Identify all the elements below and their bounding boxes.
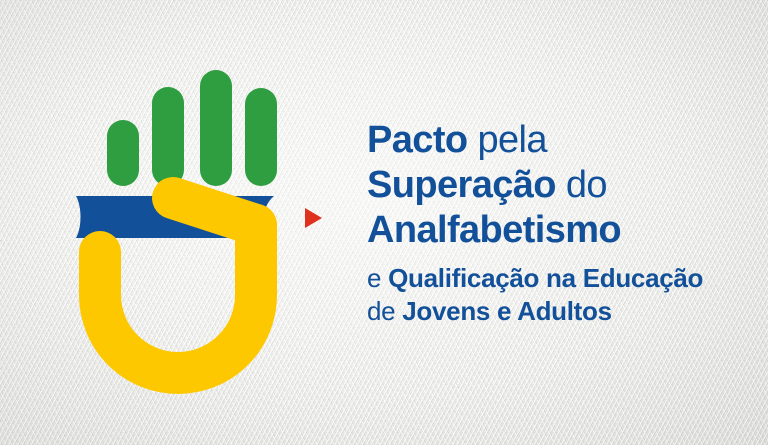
title-line-2: Superação do xyxy=(367,163,727,208)
campaign-banner: Pacto pela Superação do Analfabetismo e … xyxy=(0,0,768,445)
pacto-hand-logo xyxy=(60,50,360,395)
subtitle-line-2-regular: de xyxy=(367,296,395,326)
finger-3-icon xyxy=(200,70,232,186)
subtitle-line-1: e Qualificação na Educação xyxy=(367,262,727,295)
title-line-1: Pacto pela xyxy=(367,118,727,163)
red-play-triangle-icon xyxy=(305,208,322,228)
finger-2-icon xyxy=(152,87,184,186)
finger-4-icon xyxy=(245,88,277,186)
subtitle-block: e Qualificação na Educação de Jovens e A… xyxy=(367,262,727,328)
title-line-1-regular: pela xyxy=(477,119,546,161)
wordmark: Pacto pela Superação do Analfabetismo e … xyxy=(367,118,727,328)
subtitle-line-2: de Jovens e Adultos xyxy=(367,295,727,328)
finger-1-icon xyxy=(107,120,139,186)
title-block: Pacto pela Superação do Analfabetismo xyxy=(367,118,727,253)
subtitle-line-1-regular: e xyxy=(367,263,381,293)
subtitle-line-1-bold: Qualificação na Educação xyxy=(388,263,703,293)
title-line-1-bold: Pacto xyxy=(367,119,467,161)
title-line-3-bold: Analfabetismo xyxy=(367,209,621,251)
title-line-2-regular: do xyxy=(566,164,607,206)
title-line-2-bold: Superação xyxy=(367,164,556,206)
subtitle-line-2-bold: Jovens e Adultos xyxy=(402,296,612,326)
title-line-3: Analfabetismo xyxy=(367,208,727,253)
